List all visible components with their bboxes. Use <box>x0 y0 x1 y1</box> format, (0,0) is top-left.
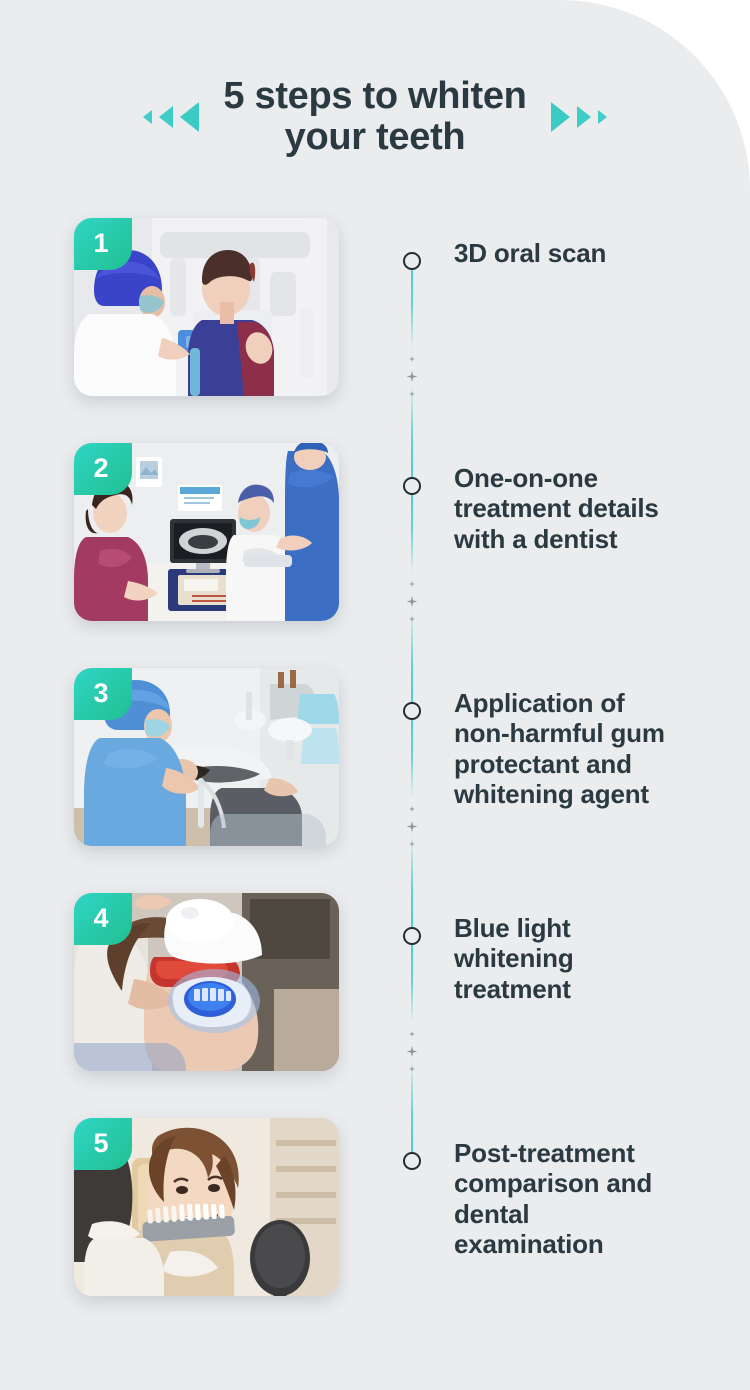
step-label: Blue light whitening treatment <box>454 913 750 1004</box>
step-photo-card: 4 <box>74 893 339 1071</box>
step-number: 3 <box>93 680 112 709</box>
sparkle-icon <box>407 371 418 382</box>
timeline-segment <box>398 1096 454 1321</box>
step-number-badge: 1 <box>74 218 132 270</box>
arrow-left-large-icon <box>180 102 199 132</box>
step-photo-card: 5 <box>74 1118 339 1296</box>
timeline-connector <box>411 945 413 1023</box>
timeline-connector-incoming <box>411 385 413 477</box>
step-photo-card: 3 <box>74 668 339 846</box>
step-photo-card: 2 <box>74 443 339 621</box>
list-item: 4 Blue light whitening treatment <box>0 871 750 1096</box>
timeline-segment <box>398 421 454 646</box>
step-label: Post-treatment comparison and dental exa… <box>454 1138 750 1260</box>
sparkle-icon <box>407 821 418 832</box>
timeline-dot-icon <box>403 252 421 270</box>
step-number-badge: 4 <box>74 893 132 945</box>
arrow-right-small-icon <box>598 110 607 124</box>
step-number: 5 <box>93 1130 112 1159</box>
step-number-badge: 3 <box>74 668 132 720</box>
step-label: Application of non-harmful gum protectan… <box>454 688 750 810</box>
timeline-dot-icon <box>403 927 421 945</box>
sparkle-icon <box>409 581 415 587</box>
arrow-left-medium-icon <box>159 106 173 128</box>
list-item: 5 Post-treatment comparison and dental e… <box>0 1096 750 1321</box>
timeline-connector-incoming <box>411 835 413 927</box>
step-label: 3D oral scan <box>454 238 750 268</box>
arrow-right-large-icon <box>551 102 570 132</box>
infographic-page: 5 steps to whiten your teeth <box>0 0 750 1390</box>
timeline-dot-icon <box>403 477 421 495</box>
sparkle-icon <box>409 1031 415 1037</box>
step-number: 4 <box>93 905 112 934</box>
step-number: 2 <box>93 455 112 484</box>
step-label: One-on-one treatment details with a dent… <box>454 463 750 554</box>
list-item: 3 Application of non-harmful gum protect… <box>0 646 750 871</box>
sparkle-icon <box>409 356 415 362</box>
left-arrow-decoration <box>143 102 199 132</box>
sparkle-icon <box>407 596 418 607</box>
timeline-connector <box>411 720 413 798</box>
arrow-left-small-icon <box>143 110 152 124</box>
timeline-segment <box>398 646 454 871</box>
arrow-right-medium-icon <box>577 106 591 128</box>
timeline-connector-incoming <box>411 610 413 702</box>
timeline-connector-incoming <box>411 1060 413 1152</box>
list-item: 1 3D oral scan <box>0 196 750 421</box>
sparkle-icon <box>407 1046 418 1057</box>
step-number-badge: 2 <box>74 443 132 495</box>
sparkle-icon <box>409 806 415 812</box>
timeline-dot-icon <box>403 1152 421 1170</box>
step-photo-card: 1 <box>74 218 339 396</box>
timeline-connector <box>411 270 413 348</box>
timeline-segment <box>398 871 454 1096</box>
list-item: 2 One-on-one treatment details with a de… <box>0 421 750 646</box>
step-number: 1 <box>93 230 112 259</box>
header: 5 steps to whiten your teeth <box>0 62 750 172</box>
right-arrow-decoration <box>551 102 607 132</box>
timeline-segment <box>398 196 454 421</box>
page-title: 5 steps to whiten your teeth <box>223 76 526 158</box>
step-number-badge: 5 <box>74 1118 132 1170</box>
timeline-dot-icon <box>403 702 421 720</box>
timeline-connector <box>411 495 413 573</box>
steps-list: 1 3D oral scan <box>0 196 750 1321</box>
